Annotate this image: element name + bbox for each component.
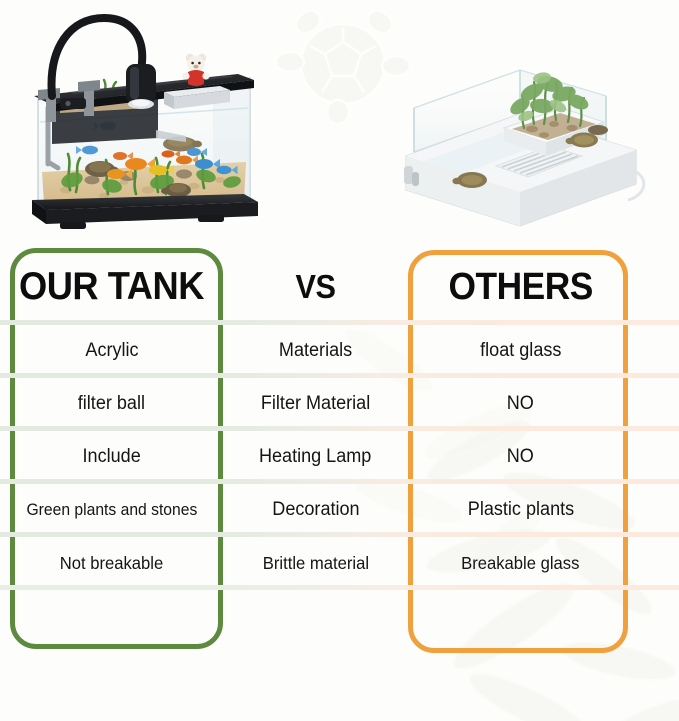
- cell-text: NO: [507, 447, 534, 468]
- cell-feature: Filter Material: [223, 394, 408, 415]
- comparison-infographic: OUR TANK VS OTHERS Acrylic Materials flo…: [0, 0, 679, 721]
- cell-others: float glass: [408, 341, 679, 362]
- table-row: Not breakable Brittle material Breakable…: [0, 537, 679, 590]
- cell-text: Not breakable: [60, 554, 164, 573]
- cell-others: Plastic plants: [408, 500, 679, 521]
- cell-others: Breakable glass: [408, 554, 679, 573]
- cell-text: NO: [507, 394, 534, 415]
- table-row: filter ball Filter Material NO: [0, 378, 679, 431]
- cell-text: Materials: [279, 341, 352, 362]
- cell-text: Plastic plants: [467, 500, 573, 521]
- cell-feature: Decoration: [223, 500, 408, 521]
- product-photo-other-tank: [392, 44, 660, 234]
- cell-text: Brittle material: [262, 554, 368, 573]
- cell-text: filter ball: [78, 394, 145, 415]
- table-row: Include Heating Lamp NO: [0, 431, 679, 484]
- cell-others: NO: [408, 447, 679, 468]
- header-cell-our-tank: OUR TANK: [0, 267, 223, 306]
- cell-feature: Brittle material: [223, 554, 408, 573]
- cell-text: float glass: [480, 341, 561, 362]
- others-title: OTHERS: [448, 268, 592, 306]
- our-tank-title: OUR TANK: [19, 267, 204, 306]
- cell-ours: Not breakable: [0, 554, 223, 573]
- cell-ours: filter ball: [0, 394, 223, 415]
- table-row: Green plants and stones Decoration Plast…: [0, 484, 679, 537]
- cell-text: Green plants and stones: [26, 501, 197, 519]
- cell-text: Decoration: [272, 500, 359, 521]
- product-photo-our-tank: [8, 4, 318, 236]
- cell-text: Include: [82, 447, 140, 468]
- table-header-row: OUR TANK VS OTHERS: [0, 248, 679, 325]
- cell-others: NO: [408, 394, 679, 415]
- vs-label: VS: [295, 270, 335, 303]
- comparison-table: OUR TANK VS OTHERS Acrylic Materials flo…: [0, 248, 679, 590]
- cell-ours: Include: [0, 447, 223, 468]
- table-row: Acrylic Materials float glass: [0, 325, 679, 378]
- cell-feature: Materials: [223, 341, 408, 362]
- cell-text: Acrylic: [85, 341, 138, 362]
- cell-text: Filter Material: [261, 394, 370, 415]
- cell-text: Breakable glass: [461, 554, 579, 573]
- cell-ours: Green plants and stones: [0, 501, 223, 519]
- header-cell-vs: VS: [223, 270, 408, 303]
- cell-feature: Heating Lamp: [223, 447, 408, 468]
- cell-text: Heating Lamp: [259, 447, 371, 468]
- row-divider: [0, 585, 679, 590]
- cell-ours: Acrylic: [0, 341, 223, 362]
- header-cell-others: OTHERS: [408, 268, 679, 306]
